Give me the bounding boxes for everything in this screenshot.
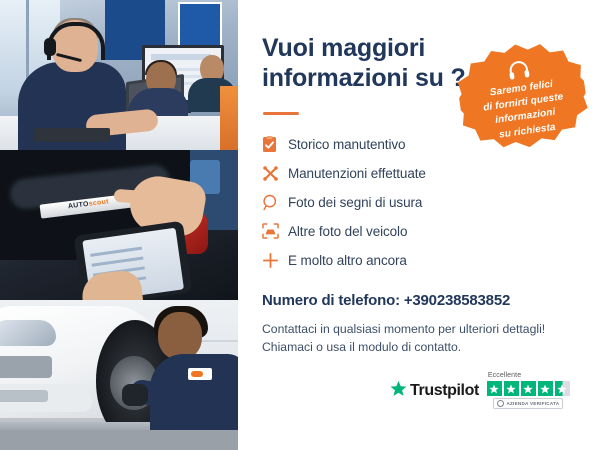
orange-equipment [220,86,238,150]
tools-cross-icon [262,165,288,182]
bumper-vent [0,390,48,402]
contact-instructions: Contattaci in qualsiasi momento per ulte… [262,320,572,357]
page-title-line-1: Vuoi maggiori [262,34,472,64]
grille [0,356,52,378]
feature-item-manutenzioni-effettuate[interactable]: Manutenzioni effettuate [262,159,562,187]
magnifier-icon [262,194,288,211]
verified-check-icon [497,400,504,407]
trustpilot-wordmark: Trustpilot [410,382,479,400]
trustpilot-star-filled [521,381,536,396]
headset-earcup [44,38,56,56]
phone-number[interactable]: Numero di telefono: +390238583852 [262,292,510,309]
mechanic-wheel-service-photo [0,300,238,450]
feature-item-foto-segni-usura[interactable]: Foto dei segni di usura [262,188,562,216]
verified-company-badge: AZIENDA VERIFICATA [493,398,563,409]
tablet-row [92,257,144,267]
trustpilot-star-filled [538,381,553,396]
mechanic-glove [122,384,148,406]
headlight [0,320,56,346]
trustpilot-widget[interactable]: Trustpilot Eccellente [390,372,570,409]
feature-item-molto-altro[interactable]: E molto altro ancora [262,246,562,274]
checklist-document-icon [262,136,288,153]
trustpilot-star-filled [487,381,502,396]
trustpilot-stars [487,381,570,396]
contact-line-1: Contattaci in qualsiasi momento per ulte… [262,320,572,338]
car-scan-frame-icon [262,223,288,239]
trustpilot-logo: Trustpilot [390,380,479,402]
feature-item-altre-foto-veicolo[interactable]: Altre foto del veicolo [262,217,562,245]
page-title: Vuoi maggiori informazioni su ? [262,34,472,93]
vehicle-inspection-tablet-photo: AUTOscout [0,150,238,300]
uniform-logo-badge [188,368,212,380]
mechanic-head [158,312,202,360]
feature-label: E molto altro ancora [288,253,407,268]
feature-list: Storico manutentivo Manutenzioni effettu… [262,130,562,275]
plus-icon [262,252,288,269]
keyboard [34,128,110,142]
trustpilot-rating-badge: Eccellente [487,372,570,409]
title-underline-rule [263,112,299,115]
feature-label: Foto dei segni di usura [288,195,422,210]
page-title-line-2: informazioni su ? [262,64,472,94]
promo-card: AUTOscout [0,0,600,450]
feature-label: Altre foto del veicolo [288,224,407,239]
trustpilot-star-filled [504,381,519,396]
call-center-agents-photo [0,0,238,150]
contact-line-2: Chiamaci o usa il modulo di contatto. [262,338,572,356]
tablet-row [90,247,142,257]
feature-item-storico-manutentivo[interactable]: Storico manutentivo [262,130,562,158]
feature-label: Manutenzioni effettuate [288,166,426,181]
trustpilot-rating-label: Eccellente [488,372,521,379]
trustpilot-star-partial [555,381,570,396]
feature-label: Storico manutentivo [288,137,405,152]
strip-logo: AUTOscout [68,198,110,210]
verified-label: AZIENDA VERIFICATA [506,401,559,406]
trustpilot-star-icon [390,380,407,402]
content-panel: Vuoi maggiori informazioni su ? Saremo f… [238,0,600,450]
workshop-floor [0,430,238,450]
photo-column: AUTOscout [0,0,238,450]
